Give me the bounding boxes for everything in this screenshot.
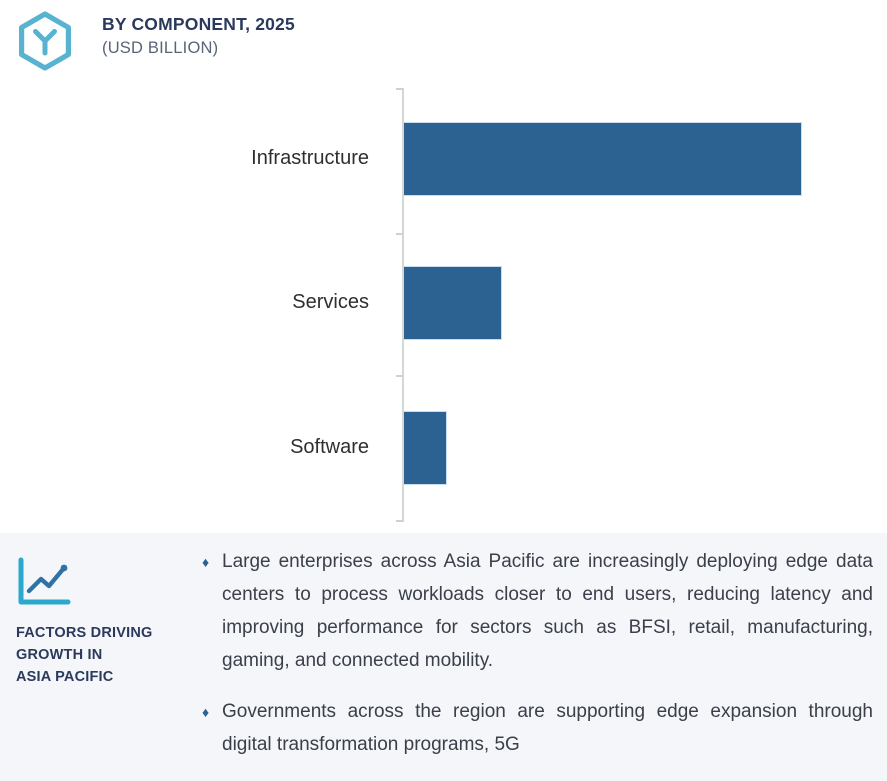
factors-panel: FACTORS DRIVING GROWTH IN ASIA PACIFIC ♦… (0, 533, 887, 781)
axis-tick (396, 520, 403, 522)
bar-infrastructure (403, 122, 802, 196)
factors-heading-line-2: GROWTH IN (16, 647, 102, 663)
axis-tick (396, 375, 403, 377)
line-chart-growth-icon (16, 557, 74, 609)
bar-chart: Infrastructure Services Software (0, 80, 887, 533)
factors-panel-left: FACTORS DRIVING GROWTH IN ASIA PACIFIC (0, 533, 196, 781)
chart-plot-area: Infrastructure Services Software (0, 80, 887, 533)
bar-software (403, 411, 447, 485)
bar-label-software: Software (69, 437, 369, 457)
bullet-diamond-icon: ♦ (202, 695, 222, 729)
factors-panel-heading: FACTORS DRIVING GROWTH IN ASIA PACIFIC (16, 623, 196, 688)
list-item: ♦ Large enterprises across Asia Pacific … (202, 545, 873, 677)
chart-header: BY COMPONENT, 2025 (USD BILLION) (0, 0, 887, 80)
bullet-diamond-icon: ♦ (202, 545, 222, 579)
factors-heading-line-1: FACTORS DRIVING (16, 625, 152, 641)
bullet-text-1: Large enterprises across Asia Pacific ar… (222, 545, 873, 677)
axis-tick (396, 88, 403, 90)
hexagon-y-logo-icon (12, 8, 78, 74)
bullet-text-2: Governments across the region are suppor… (222, 695, 873, 761)
factors-panel-bullets: ♦ Large enterprises across Asia Pacific … (196, 533, 887, 781)
bar-services (403, 266, 502, 340)
page-subtitle: (USD BILLION) (102, 38, 295, 59)
bar-label-infrastructure: Infrastructure (69, 148, 369, 168)
axis-tick (396, 233, 403, 235)
list-item: ♦ Governments across the region are supp… (202, 695, 873, 761)
header-text-block: BY COMPONENT, 2025 (USD BILLION) (102, 8, 295, 59)
bar-label-services: Services (69, 292, 369, 312)
factors-heading-line-3: ASIA PACIFIC (16, 669, 113, 685)
page-title: BY COMPONENT, 2025 (102, 14, 295, 36)
